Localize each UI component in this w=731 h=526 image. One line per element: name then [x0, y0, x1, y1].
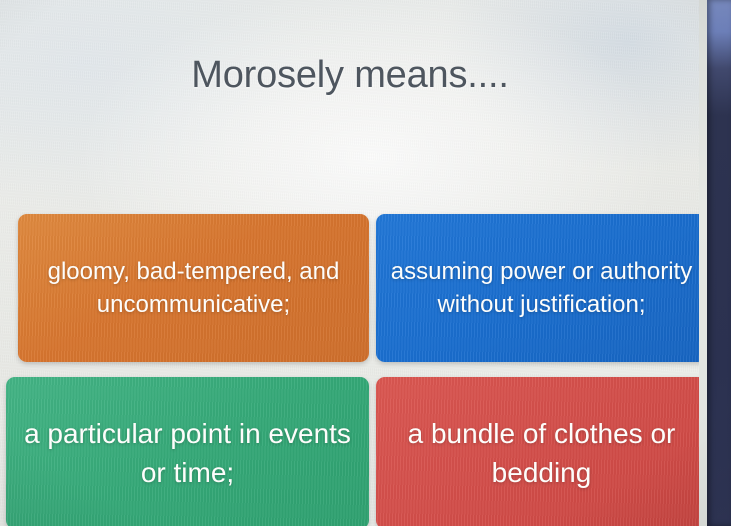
answer-option-d-label: a bundle of clothes or bedding	[390, 414, 693, 492]
answer-option-c[interactable]: a particular point in events or time;	[6, 377, 369, 526]
quiz-screen: Morosely means.... gloomy, bad-tempered,…	[0, 0, 731, 526]
question-prompt: Morosely means....	[0, 52, 700, 98]
bezel-gap	[699, 0, 707, 526]
quiz-surface: Morosely means.... gloomy, bad-tempered,…	[0, 0, 714, 526]
answer-options-grid: gloomy, bad-tempered, and uncommunicativ…	[6, 214, 708, 526]
answer-option-a-label: gloomy, bad-tempered, and uncommunicativ…	[32, 255, 355, 321]
answer-option-b-label: assuming power or authority without just…	[390, 255, 693, 321]
answer-option-a[interactable]: gloomy, bad-tempered, and uncommunicativ…	[18, 214, 369, 362]
answer-option-c-label: a particular point in events or time;	[20, 414, 355, 492]
monitor-right-bezel	[707, 0, 731, 526]
answer-option-b[interactable]: assuming power or authority without just…	[376, 214, 707, 362]
answer-option-d[interactable]: a bundle of clothes or bedding	[376, 377, 707, 526]
